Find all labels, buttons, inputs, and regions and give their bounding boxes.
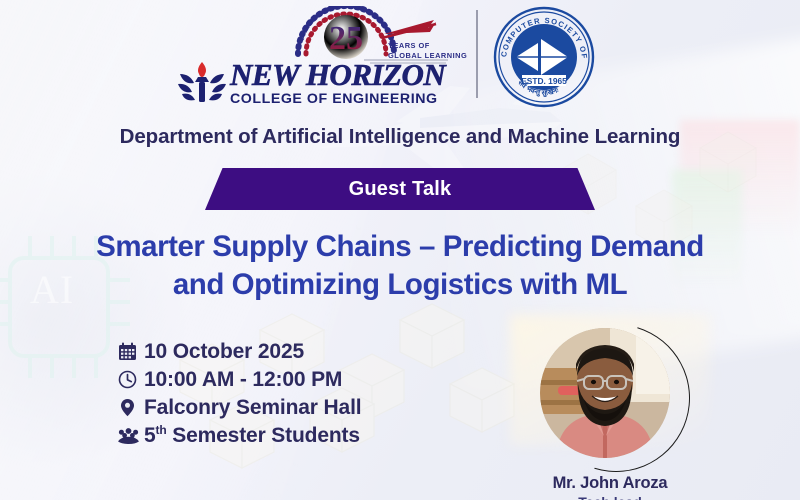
detail-row-venue: Falconry Seminar Hall xyxy=(118,394,478,421)
college-name: NEW HORIZON xyxy=(230,59,445,90)
detail-row-audience: 5th Semester Students xyxy=(118,422,478,449)
svg-text:ESTD. 1965: ESTD. 1965 xyxy=(521,76,567,86)
audience-rest: Semester Students xyxy=(167,424,360,447)
guest-talk-ribbon-wrap: Guest Talk xyxy=(0,168,800,210)
csi-seal-icon: COMPUTER SOCIETY OF INDIA ESTD. 1965 सर्… xyxy=(492,5,596,109)
location-pin-icon xyxy=(118,398,144,417)
guest-talk-ribbon: Guest Talk xyxy=(205,168,595,210)
audience-ordinal: th xyxy=(156,423,167,437)
header-divider xyxy=(476,10,478,98)
college-subtitle: COLLEGE OF ENGINEERING xyxy=(230,91,445,107)
people-group-icon xyxy=(118,427,144,444)
detail-row-time: 10:00 AM - 12:00 PM xyxy=(118,366,478,393)
speaker-card: Mr. John Aroza Tech lead UST xyxy=(505,328,715,500)
silver-jubilee-icon: SILVER HORIZONS 25 YEARS OF GLOBAL LEARN… xyxy=(288,6,468,64)
clock-icon xyxy=(118,370,144,389)
detail-date: 10 October 2025 xyxy=(144,340,304,364)
talk-title-line1: Smarter Supply Chains – Predicting Deman… xyxy=(0,228,800,266)
speaker-name: Mr. John Aroza xyxy=(505,474,715,493)
new-horizon-logo: SILVER HORIZONS 25 YEARS OF GLOBAL LEARN… xyxy=(176,6,468,106)
svg-text:25: 25 xyxy=(329,20,363,57)
poster-header: SILVER HORIZONS 25 YEARS OF GLOBAL LEARN… xyxy=(0,0,800,112)
audience-number: 5 xyxy=(144,424,156,447)
calendar-icon xyxy=(118,342,144,361)
event-poster: AI xyxy=(0,0,800,500)
detail-time: 10:00 AM - 12:00 PM xyxy=(144,368,342,392)
event-details-list: 10 October 2025 10:00 AM - 12:00 PM Falc… xyxy=(118,338,478,450)
detail-row-date: 10 October 2025 xyxy=(118,338,478,365)
talk-title-line2: and Optimizing Logistics with ML xyxy=(0,266,800,304)
speaker-role: Tech lead xyxy=(505,494,715,500)
speaker-photo-box xyxy=(540,328,680,468)
torch-laurel-icon xyxy=(176,60,228,106)
guest-talk-label: Guest Talk xyxy=(349,178,452,201)
talk-title: Smarter Supply Chains – Predicting Deman… xyxy=(0,228,800,304)
svg-text:YEARS OF: YEARS OF xyxy=(388,41,430,50)
detail-venue: Falconry Seminar Hall xyxy=(144,396,361,420)
speaker-photo xyxy=(540,328,670,458)
department-title: Department of Artificial Intelligence an… xyxy=(0,125,800,149)
detail-audience: 5th Semester Students xyxy=(144,423,360,448)
